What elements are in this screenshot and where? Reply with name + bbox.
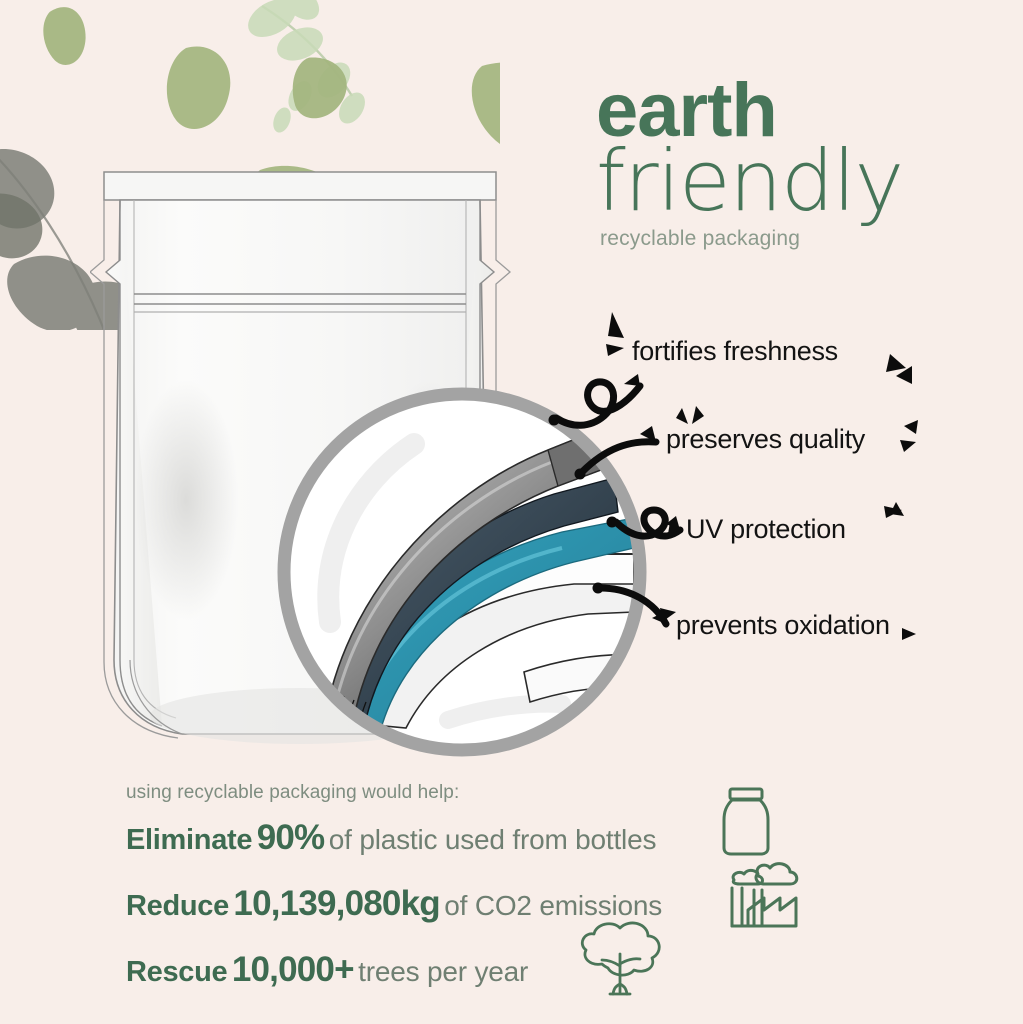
headline-friendly: friendly (596, 143, 1016, 220)
factory-icon (718, 856, 804, 930)
stat-verb: Eliminate (126, 824, 252, 856)
stat-value: 90% (257, 818, 325, 857)
stat-value: 10,139,080kg (233, 884, 439, 923)
stat-row-eliminate: Eliminate 90% of plastic used from bottl… (126, 818, 906, 858)
infographic-canvas: earth friendly recyclable packaging fort… (0, 0, 1023, 1024)
stat-rest: of CO2 emissions (444, 890, 662, 921)
stat-verb: Reduce (126, 890, 229, 922)
stat-value: 10,000+ (232, 950, 354, 989)
stats-caption: using recyclable packaging would help: (126, 782, 906, 804)
bottle-icon (716, 786, 778, 858)
stat-verb: Rescue (126, 956, 227, 988)
stat-row-rescue: Rescue 10,000+ trees per year (126, 950, 906, 990)
feature-uv-protection: UV protection (686, 514, 846, 545)
feature-preserves-quality: preserves quality (666, 424, 865, 455)
tree-icon (572, 920, 668, 998)
feature-fortifies-freshness: fortifies freshness (632, 336, 838, 367)
headline-subtitle: recyclable packaging (600, 227, 1016, 251)
headline-block: earth friendly recyclable packaging (596, 78, 1016, 251)
stat-rest: trees per year (358, 956, 528, 987)
feature-prevents-oxidation: prevents oxidation (676, 610, 890, 641)
stat-rest: of plastic used from bottles (329, 824, 656, 855)
